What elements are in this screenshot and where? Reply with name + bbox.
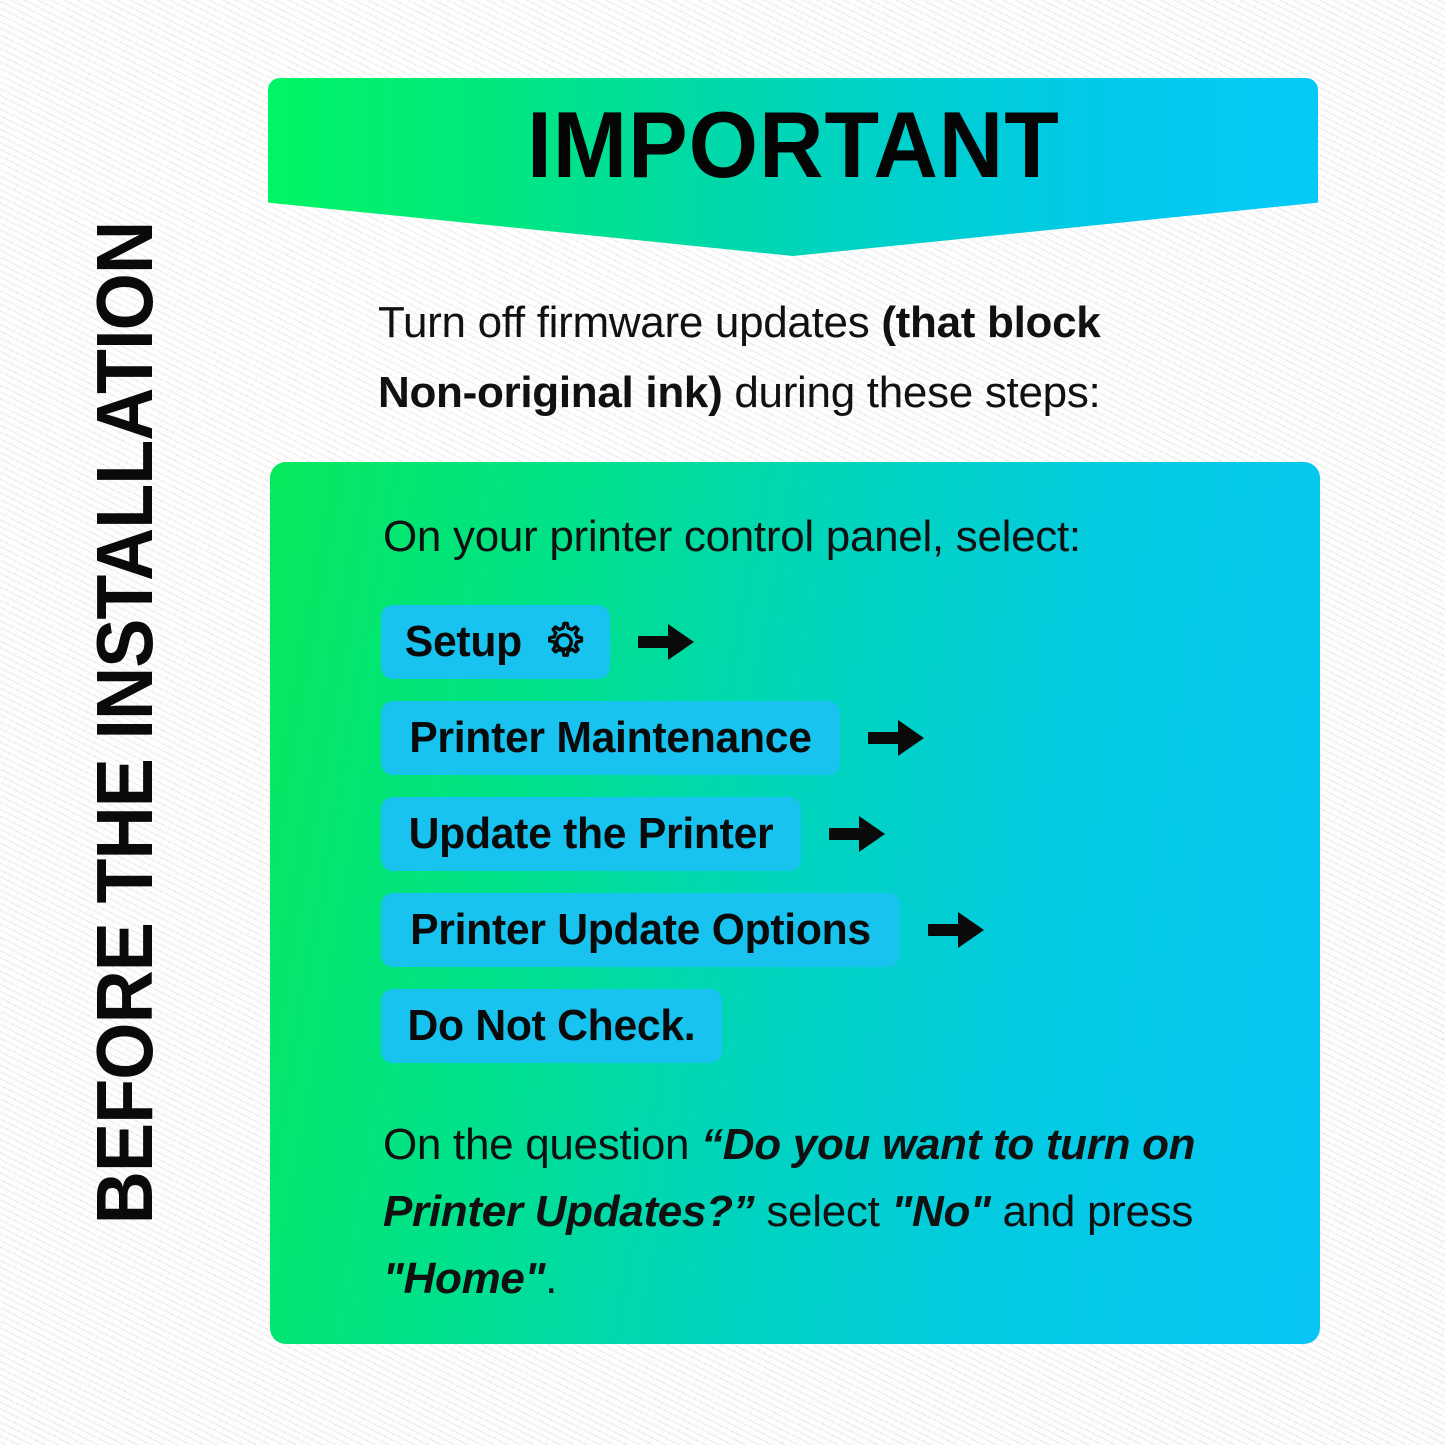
- important-banner-label: IMPORTANT: [527, 98, 1060, 192]
- step-row-do-not-check: Do Not Check.: [381, 989, 1261, 1063]
- steps-box-inner: On your printer control panel, select: S…: [275, 467, 1315, 1339]
- vertical-title-area: BEFORE THE INSTALLATION: [0, 0, 250, 1445]
- step-chip-update-the-printer[interactable]: Update the Printer: [381, 797, 801, 871]
- panel-instruction-text: On your printer control panel, select:: [383, 512, 1081, 562]
- step-row-update-the-printer: Update the Printer: [381, 797, 1261, 871]
- step-chip-printer-maintenance[interactable]: Printer Maintenance: [381, 701, 840, 775]
- vertical-title-text: BEFORE THE INSTALLATION: [85, 221, 165, 1223]
- step-chip-do-not-check-label: Do Not Check.: [407, 1001, 695, 1051]
- arrow-right-icon: [636, 619, 698, 665]
- important-banner: IMPORTANT: [268, 78, 1318, 256]
- step-chip-do-not-check[interactable]: Do Not Check.: [381, 989, 722, 1063]
- gear-icon: [540, 618, 588, 666]
- arrow-right-icon: [926, 907, 988, 953]
- closing-text-part1: On the question: [383, 1120, 701, 1169]
- step-chip-printer-update-options[interactable]: Printer Update Options: [381, 893, 900, 967]
- step-row-printer-maintenance: Printer Maintenance: [381, 701, 1261, 775]
- step-row-setup: Setup: [381, 605, 1261, 679]
- closing-text-part4: .: [545, 1254, 557, 1303]
- step-chip-printer-update-options-label: Printer Update Options: [410, 905, 871, 955]
- intro-text-part1: Turn off firmware updates: [378, 298, 881, 347]
- closing-text-part2: select: [754, 1187, 891, 1236]
- steps-box: On your printer control panel, select: S…: [270, 462, 1320, 1344]
- arrow-right-icon: [866, 715, 928, 761]
- step-chip-setup-label: Setup: [405, 617, 522, 667]
- intro-text-part2: during these steps:: [722, 368, 1100, 417]
- closing-text-part3: and press: [991, 1187, 1193, 1236]
- closing-text-home: "Home": [383, 1254, 545, 1303]
- step-chip-update-the-printer-label: Update the Printer: [409, 809, 774, 859]
- infographic-page: BEFORE THE INSTALLATION IMPORTANT Turn o…: [0, 0, 1445, 1445]
- vertical-title: BEFORE THE INSTALLATION: [85, 178, 165, 1268]
- intro-paragraph: Turn off firmware updates (that block No…: [378, 288, 1178, 427]
- arrow-right-icon: [827, 811, 889, 857]
- step-chip-printer-maintenance-label: Printer Maintenance: [409, 713, 811, 763]
- closing-text-answer: "No": [891, 1187, 990, 1236]
- step-row-printer-update-options: Printer Update Options: [381, 893, 1261, 967]
- step-chip-setup[interactable]: Setup: [381, 605, 610, 679]
- closing-paragraph: On the question “Do you want to turn on …: [383, 1112, 1243, 1313]
- step-chip-list: Setup: [381, 605, 1261, 1085]
